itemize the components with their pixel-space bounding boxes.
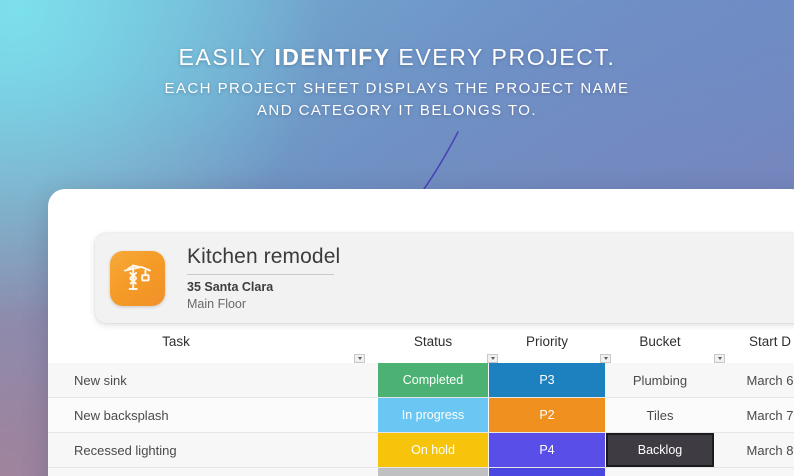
project-title-divider xyxy=(187,274,334,275)
cell-task[interactable]: New sink xyxy=(74,363,374,397)
column-header-status[interactable]: Status xyxy=(378,334,488,349)
cell-bucket[interactable]: Backlog xyxy=(606,433,714,467)
table-body: New sinkCompletedP3PlumbingMarch 6New ba… xyxy=(48,363,794,476)
partial-cell-status[interactable] xyxy=(378,468,488,476)
cell-start-date[interactable]: March 6 xyxy=(716,363,794,397)
partial-cell-priority[interactable] xyxy=(489,468,605,476)
cell-bucket-selected-chip[interactable]: Backlog xyxy=(606,433,714,467)
promo-headline-block: EASILY IDENTIFY EVERY PROJECT. EACH PROJ… xyxy=(0,44,794,122)
headline-line-2: EACH PROJECT SHEET DISPLAYS THE PROJECT … xyxy=(0,78,794,100)
cell-status[interactable]: In progress xyxy=(378,398,488,432)
cell-status[interactable]: On hold xyxy=(378,433,488,467)
project-text-block: Kitchen remodel 35 Santa Clara Main Floo… xyxy=(187,244,340,313)
project-title[interactable]: Kitchen remodel xyxy=(187,244,340,269)
column-header-priority[interactable]: Priority xyxy=(489,334,605,349)
project-subtitle-address: 35 Santa Clara xyxy=(187,279,340,296)
filter-dropdown-bucket-icon[interactable] xyxy=(714,354,725,363)
cell-bucket[interactable]: Tiles xyxy=(606,398,714,432)
column-header-start-date[interactable]: Start D xyxy=(716,334,794,349)
project-header-card[interactable]: Kitchen remodel 35 Santa Clara Main Floo… xyxy=(95,233,794,323)
filter-dropdown-status-icon[interactable] xyxy=(487,354,498,363)
column-header-bucket[interactable]: Bucket xyxy=(606,334,714,349)
cell-bucket[interactable]: Plumbing xyxy=(606,363,714,397)
headline-line-1-bold: IDENTIFY xyxy=(274,44,390,70)
headline-line-1-prefix: EASILY xyxy=(178,44,274,70)
headline-line-1-suffix: EVERY PROJECT. xyxy=(390,44,615,70)
table-column-header-row: TaskStatusPriorityBucketStart D xyxy=(48,331,794,354)
cell-task[interactable]: Recessed lighting xyxy=(74,433,374,467)
table-row-partial[interactable] xyxy=(48,468,794,476)
cell-start-date[interactable]: March 7 xyxy=(716,398,794,432)
project-sheet-table: TaskStatusPriorityBucketStart D New sink… xyxy=(48,331,794,476)
headline-line-3: AND CATEGORY IT BELONGS TO. xyxy=(0,100,794,122)
cell-priority[interactable]: P4 xyxy=(489,433,605,467)
cell-start-date[interactable]: March 8 xyxy=(716,433,794,467)
table-row[interactable]: New backsplashIn progressP2TilesMarch 7 xyxy=(48,398,794,433)
cell-priority[interactable]: P3 xyxy=(489,363,605,397)
table-row[interactable]: Recessed lightingOn holdP4BacklogMarch 8 xyxy=(48,433,794,468)
filter-dropdown-task-icon[interactable] xyxy=(354,354,365,363)
table-row[interactable]: New sinkCompletedP3PlumbingMarch 6 xyxy=(48,363,794,398)
screenshot-root: EASILY IDENTIFY EVERY PROJECT. EACH PROJ… xyxy=(0,0,794,476)
filter-dropdown-priority-icon[interactable] xyxy=(600,354,611,363)
table-filter-button-strip xyxy=(48,354,794,363)
cell-priority[interactable]: P2 xyxy=(489,398,605,432)
construction-crane-icon xyxy=(110,251,165,306)
project-category: Main Floor xyxy=(187,296,340,313)
cell-status[interactable]: Completed xyxy=(378,363,488,397)
app-window: Kitchen remodel 35 Santa Clara Main Floo… xyxy=(48,189,794,476)
headline-line-1: EASILY IDENTIFY EVERY PROJECT. xyxy=(0,44,794,71)
column-header-task[interactable]: Task xyxy=(48,334,326,349)
cell-task[interactable]: New backsplash xyxy=(74,398,374,432)
